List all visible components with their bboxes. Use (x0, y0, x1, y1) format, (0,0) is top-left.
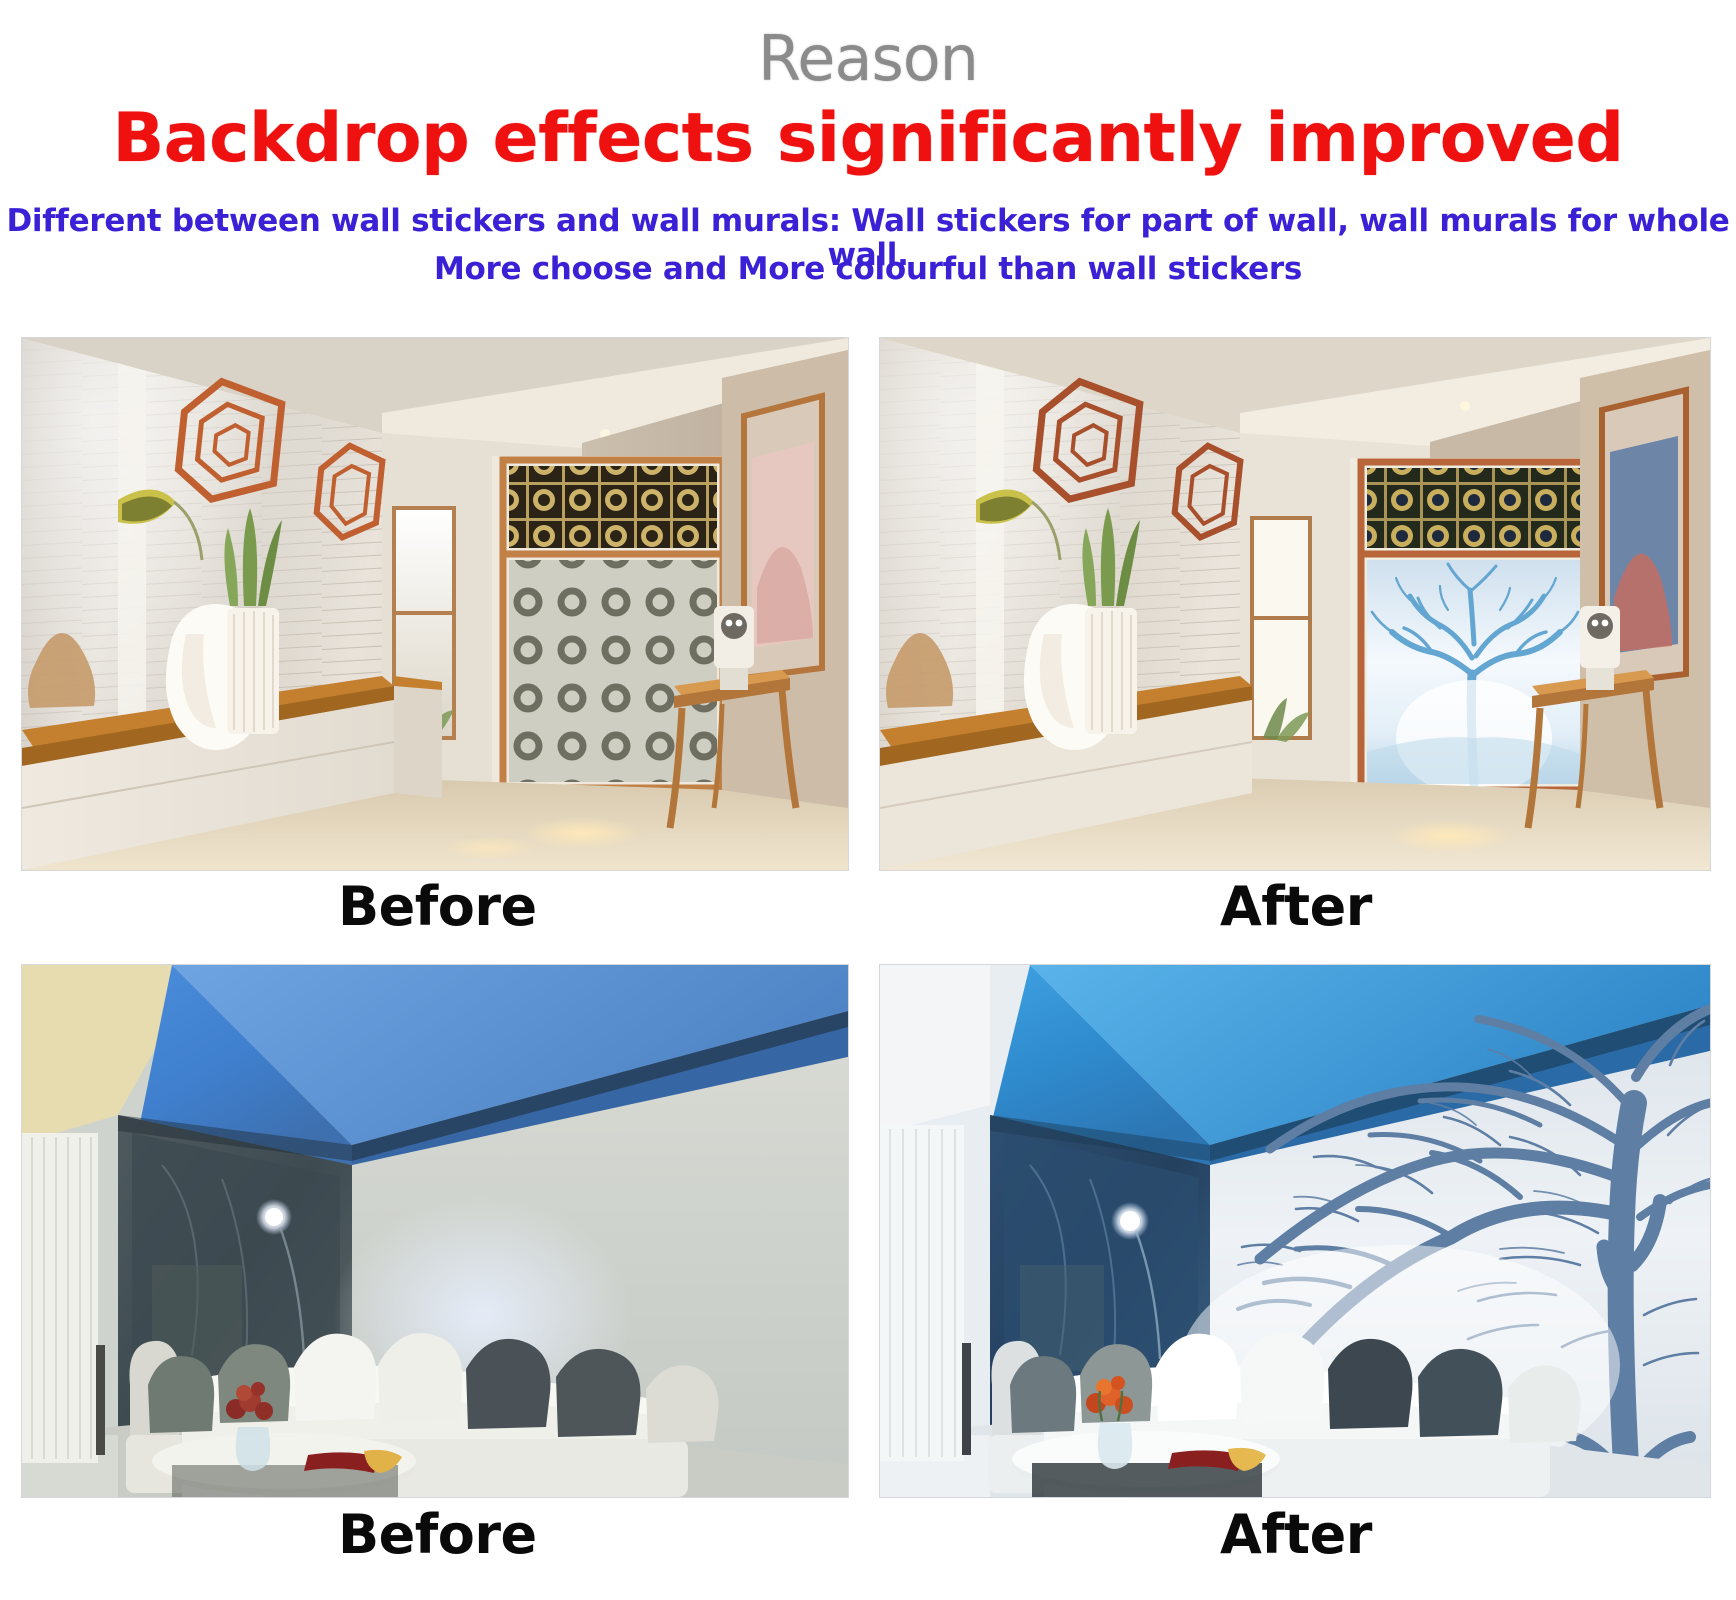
page-title: Backdrop effects significantly improved (0, 104, 1736, 173)
page-eyebrow: Reason (0, 28, 1736, 90)
scene-hallway-after (880, 338, 1710, 870)
caption-after-livingroom: After (1220, 1508, 1372, 1562)
tree-mural-icon (1367, 560, 1581, 796)
figurine-icon (714, 606, 754, 690)
image-livingroom-before (22, 965, 848, 1497)
caption-before-hallway: Before (338, 880, 537, 934)
scene-livingroom-after (880, 965, 1710, 1497)
promo-page: Reason Backdrop effects significantly im… (0, 0, 1736, 1600)
image-hallway-before (22, 338, 848, 870)
figurine-icon (1580, 606, 1620, 690)
caption-after-hallway: After (1220, 880, 1372, 934)
caption-before-livingroom: Before (338, 1508, 537, 1562)
scene-hallway-before (22, 338, 848, 870)
image-livingroom-after (880, 965, 1710, 1497)
image-hallway-after (880, 338, 1710, 870)
scene-livingroom-before (22, 965, 848, 1497)
subtitle-line-2: More choose and More colourful than wall… (0, 252, 1736, 286)
